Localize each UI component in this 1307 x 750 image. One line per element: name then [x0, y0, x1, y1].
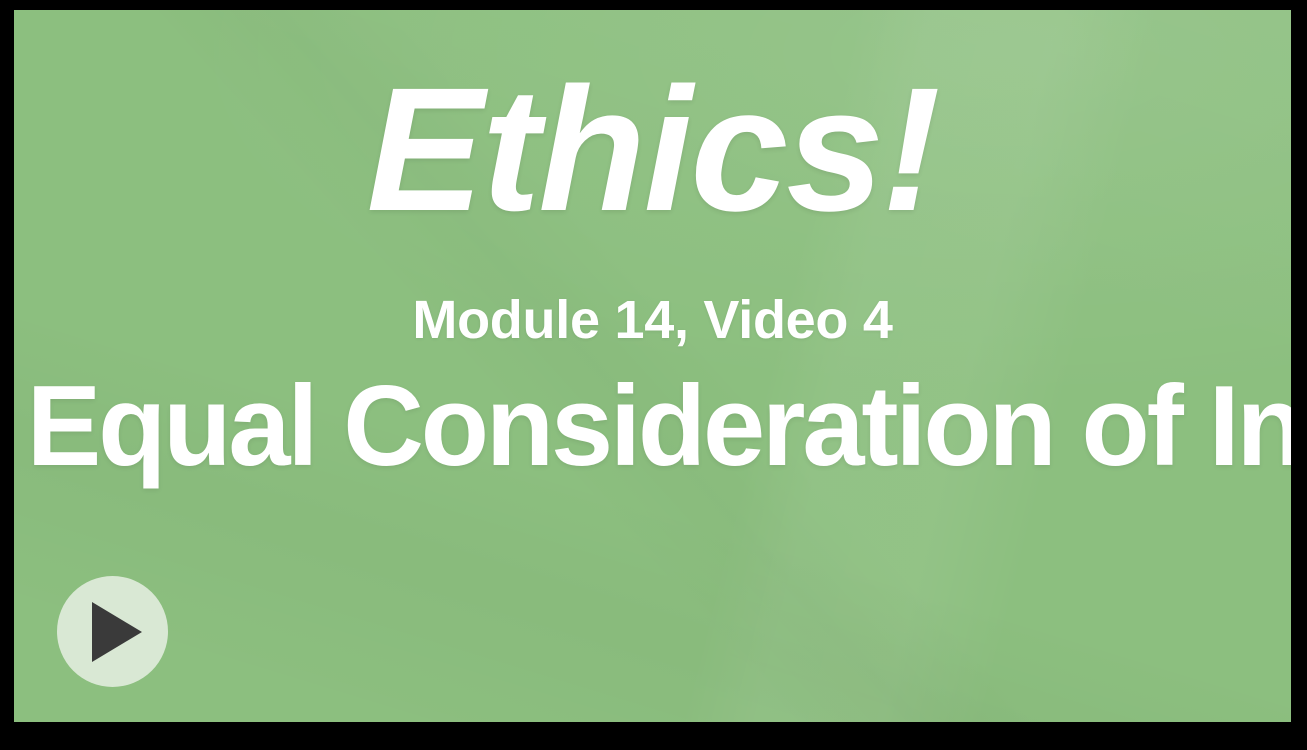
course-title: Ethics! — [14, 62, 1291, 238]
module-video-label: Module 14, Video 4 — [14, 293, 1291, 347]
play-triangle-icon — [92, 602, 142, 662]
video-title-slide: Ethics! Module 14, Video 4 Equal Conside… — [14, 10, 1291, 722]
video-player-frame: Ethics! Module 14, Video 4 Equal Conside… — [0, 0, 1307, 750]
video-title: Equal Consideration of Interests — [27, 370, 1278, 484]
play-button[interactable] — [57, 576, 168, 687]
